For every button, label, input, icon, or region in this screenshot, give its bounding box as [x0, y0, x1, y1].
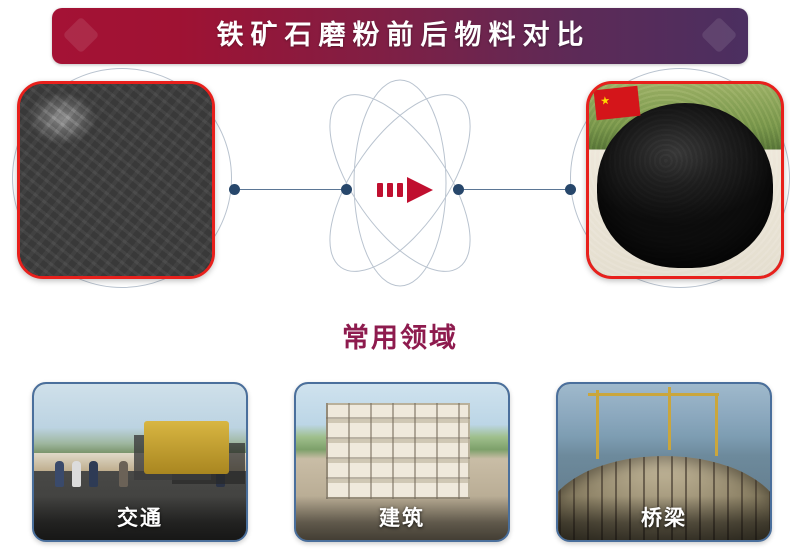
- page-title: 铁矿石磨粉前后物料对比: [52, 8, 748, 64]
- flag-icon: [594, 86, 641, 120]
- connector-line-right: [464, 189, 565, 190]
- finished-powder-photo: [586, 81, 784, 279]
- connector-line-left: [240, 189, 341, 190]
- comparison-diagram: [0, 64, 800, 304]
- application-card-bridge[interactable]: 桥梁: [556, 382, 772, 542]
- section-heading: 常用领域: [0, 316, 800, 355]
- raw-material-photo: [17, 81, 215, 279]
- card-caption: 桥梁: [558, 496, 770, 540]
- iron-ore-rock-image: [20, 84, 212, 276]
- card-caption: 建筑: [296, 496, 508, 540]
- node-dot-a: [229, 184, 240, 195]
- card-caption: 交通: [34, 496, 246, 540]
- node-dot-d: [565, 184, 576, 195]
- application-card-transport[interactable]: 交通: [32, 382, 248, 542]
- node-dot-b: [341, 184, 352, 195]
- process-arrow-icon: [377, 177, 439, 203]
- application-cards: 交通 建筑 桥梁: [0, 382, 800, 542]
- title-banner: 铁矿石磨粉前后物料对比: [52, 8, 748, 64]
- node-dot-c: [453, 184, 464, 195]
- application-card-construction[interactable]: 建筑: [294, 382, 510, 542]
